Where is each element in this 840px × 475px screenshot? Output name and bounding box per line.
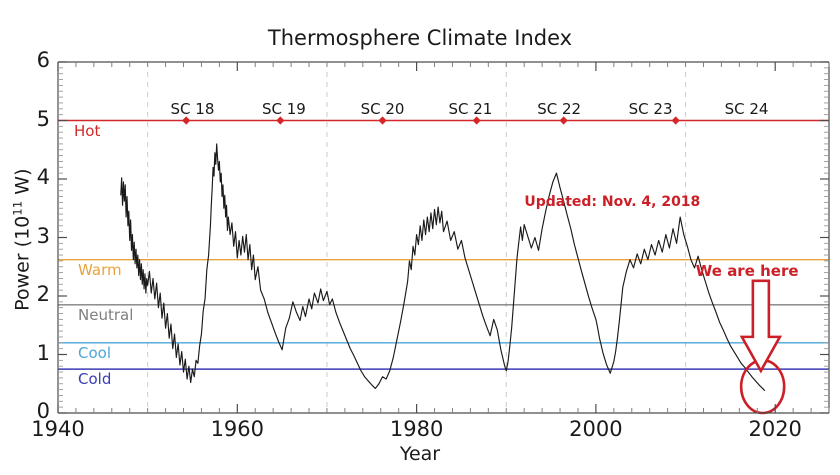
y-tick-label-2: 2 (10, 282, 50, 306)
chart-canvas (0, 0, 840, 475)
threshold-label-cool: Cool (78, 344, 111, 362)
y-axis-label-exponent: 11 (10, 201, 24, 216)
threshold-label-neutral: Neutral (78, 306, 133, 324)
solar-cycle-label-sc19: SC 19 (239, 100, 329, 118)
solar-cycle-label-sc18: SC 18 (147, 100, 237, 118)
x-tick-label-2000: 2000 (541, 417, 651, 441)
solar-cycle-label-sc21: SC 21 (425, 100, 515, 118)
annotation-updated-note: Updated: Nov. 4, 2018 (524, 194, 700, 210)
solar-cycle-boundary-marker (473, 117, 480, 124)
y-tick-label-6: 6 (10, 48, 50, 72)
solar-cycle-label-sc24: SC 24 (702, 100, 792, 118)
solar-cycle-label-sc23: SC 23 (606, 100, 696, 118)
we-are-here-arrow (742, 281, 780, 371)
y-tick-label-4: 4 (10, 165, 50, 189)
y-tick-label-3: 3 (10, 224, 50, 248)
y-tick-label-5: 5 (10, 107, 50, 131)
solar-cycle-boundary-marker (277, 117, 284, 124)
solar-cycle-boundary-marker (379, 117, 386, 124)
solar-cycle-boundary-marker (672, 117, 679, 124)
y-tick-label-1: 1 (10, 341, 50, 365)
x-tick-label-2020: 2020 (720, 417, 830, 441)
tci-data-line (121, 144, 765, 391)
solar-cycle-boundary-marker (560, 117, 567, 124)
threshold-label-cold: Cold (78, 370, 111, 388)
solar-cycle-label-sc22: SC 22 (514, 100, 604, 118)
y-tick-label-0: 0 (10, 399, 50, 423)
threshold-label-hot: Hot (74, 122, 100, 140)
thermosphere-climate-index-figure: Thermosphere Climate Index Year Power (1… (0, 0, 840, 475)
x-axis-label: Year (0, 443, 840, 465)
chart-title: Thermosphere Climate Index (0, 26, 840, 50)
solar-cycle-label-sc20: SC 20 (338, 100, 428, 118)
threshold-label-warm: Warm (78, 261, 122, 279)
x-tick-label-1960: 1960 (182, 417, 292, 441)
annotation-we-are-here: We are here (696, 262, 799, 280)
x-tick-label-1980: 1980 (362, 417, 472, 441)
solar-cycle-boundary-marker (183, 117, 190, 124)
